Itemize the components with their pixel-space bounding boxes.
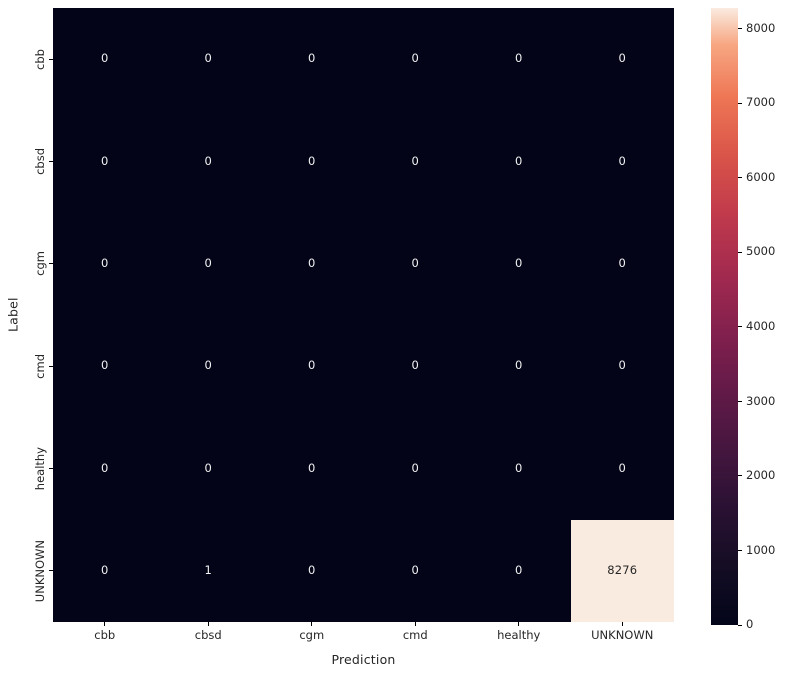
y-tick-label: UNKNOWN <box>35 540 47 602</box>
heatmap-cell-value: 0 <box>101 156 109 168</box>
heatmap-cell-value: 0 <box>618 463 626 475</box>
heatmap-cell-value: 0 <box>308 463 316 475</box>
x-tick-mark <box>518 622 519 626</box>
heatmap-cell-value: 0 <box>515 463 523 475</box>
x-tick-mark <box>415 622 416 626</box>
heatmap-cell: 0 <box>364 417 468 519</box>
x-tick: cbsd <box>157 622 261 648</box>
colorbar-tick-mark <box>738 550 742 551</box>
heatmap-cell-value: 8276 <box>607 565 637 577</box>
heatmap-cell: 0 <box>157 315 261 417</box>
heatmap-cell-value: 0 <box>308 360 316 372</box>
heatmap-cell: 0 <box>53 417 157 519</box>
x-tick: healthy <box>467 622 571 648</box>
heatmap-cell: 0 <box>260 417 364 519</box>
y-tick-label: cmd <box>35 354 47 379</box>
x-tick-label: healthy <box>497 630 540 642</box>
y-tick-label: cbsd <box>35 148 47 175</box>
heatmap-cell: 1 <box>157 520 261 622</box>
heatmap-cell-value: 0 <box>308 565 316 577</box>
heatmap-cell-value: 0 <box>618 360 626 372</box>
heatmap-cell: 0 <box>53 213 157 315</box>
colorbar-tick-mark <box>738 326 742 327</box>
heatmap-cell-value: 0 <box>411 360 419 372</box>
x-tick: UNKNOWN <box>571 622 675 648</box>
colorbar-tick-label: 6000 <box>746 172 775 184</box>
heatmap-cell-value: 0 <box>101 360 109 372</box>
heatmap-cell-value: 1 <box>204 565 212 577</box>
heatmap-cell: 0 <box>157 417 261 519</box>
x-axis-title: Prediction <box>53 652 674 667</box>
colorbar-tick-label: 1000 <box>746 545 775 557</box>
colorbar-tick-mark <box>738 252 742 253</box>
heatmap-cell: 0 <box>467 110 571 212</box>
heatmap-cell: 0 <box>260 520 364 622</box>
x-tick-mark <box>104 622 105 626</box>
heatmap-cell-value: 0 <box>515 156 523 168</box>
x-tick-mark <box>622 622 623 626</box>
heatmap-cell: 0 <box>364 110 468 212</box>
colorbar-tick-label: 3000 <box>746 396 775 408</box>
x-tick-label: UNKNOWN <box>591 630 653 642</box>
heatmap-cell: 8276 <box>571 520 675 622</box>
x-tick: cmd <box>364 622 468 648</box>
colorbar-tick-label: 4000 <box>746 321 775 333</box>
heatmap-cell-value: 0 <box>308 156 316 168</box>
heatmap-cell-value: 0 <box>101 565 109 577</box>
colorbar-tick-mark <box>738 103 742 104</box>
heatmap-cell: 0 <box>53 520 157 622</box>
heatmap-cell-value: 0 <box>515 360 523 372</box>
colorbar: 800070006000500040003000200010000 <box>711 8 738 625</box>
colorbar-tick-label: 5000 <box>746 246 775 258</box>
heatmap-cell-value: 0 <box>204 258 212 270</box>
x-tick: cgm <box>260 622 364 648</box>
y-tick-label: cgm <box>35 251 47 276</box>
heatmap-cell-value: 0 <box>515 565 523 577</box>
confusion-matrix-figure: Label cbbcbsdcgmcmdhealthyUNKNOWN 000000… <box>0 0 797 679</box>
colorbar-tick-mark <box>738 401 742 402</box>
x-tick: cbb <box>53 622 157 648</box>
colorbar-tick-label: 7000 <box>746 97 775 109</box>
y-tick-label: cbb <box>35 49 47 70</box>
colorbar-tick-list: 800070006000500040003000200010000 <box>738 8 797 625</box>
heatmap-cell-value: 0 <box>308 53 316 65</box>
colorbar-tick-label: 2000 <box>746 470 775 482</box>
heatmap-cell: 0 <box>364 520 468 622</box>
heatmap-cell: 0 <box>53 8 157 110</box>
heatmap-cell-value: 0 <box>411 565 419 577</box>
heatmap-cell-value: 0 <box>515 53 523 65</box>
heatmap-cell: 0 <box>571 110 675 212</box>
x-tick-label: cbsd <box>195 630 222 642</box>
colorbar-gradient <box>711 8 738 625</box>
heatmap-cell: 0 <box>364 315 468 417</box>
y-tick-label: healthy <box>35 447 47 490</box>
heatmap-cell: 0 <box>571 315 675 417</box>
colorbar-tick-mark <box>738 177 742 178</box>
heatmap-grid: 000000000000000000000000000000010008276 <box>53 8 674 622</box>
heatmap-cell-value: 0 <box>204 463 212 475</box>
heatmap-cell-value: 0 <box>411 258 419 270</box>
y-axis: cbbcbsdcgmcmdhealthyUNKNOWN <box>0 8 53 622</box>
heatmap-cell: 0 <box>53 315 157 417</box>
x-tick-mark <box>311 622 312 626</box>
heatmap-cell: 0 <box>53 110 157 212</box>
heatmap-cell-value: 0 <box>101 53 109 65</box>
heatmap-cell-value: 0 <box>618 53 626 65</box>
x-tick-label: cmd <box>403 630 428 642</box>
heatmap-cell: 0 <box>157 8 261 110</box>
heatmap-cell: 0 <box>364 8 468 110</box>
heatmap-cell-value: 0 <box>204 53 212 65</box>
heatmap-cell: 0 <box>571 8 675 110</box>
colorbar-tick-label: 0 <box>746 619 753 631</box>
x-axis: cbbcbsdcgmcmdhealthyUNKNOWN <box>53 622 674 648</box>
heatmap-cell-value: 0 <box>204 156 212 168</box>
colorbar-tick-mark <box>738 28 742 29</box>
heatmap-cell: 0 <box>467 213 571 315</box>
heatmap-cell-value: 0 <box>308 258 316 270</box>
heatmap-cell-value: 0 <box>411 156 419 168</box>
x-tick-label: cgm <box>299 630 324 642</box>
heatmap-cell: 0 <box>260 8 364 110</box>
heatmap-cell-value: 0 <box>204 360 212 372</box>
heatmap-cell-value: 0 <box>101 258 109 270</box>
heatmap-cell: 0 <box>467 520 571 622</box>
heatmap-cell-value: 0 <box>411 53 419 65</box>
x-tick-mark <box>208 622 209 626</box>
heatmap-cell: 0 <box>260 213 364 315</box>
heatmap-cell: 0 <box>571 213 675 315</box>
x-tick-label: cbb <box>94 630 115 642</box>
colorbar-tick-label: 8000 <box>746 23 775 35</box>
heatmap-cell-value: 0 <box>618 258 626 270</box>
heatmap-cell: 0 <box>467 315 571 417</box>
heatmap-cell: 0 <box>467 8 571 110</box>
heatmap-cell: 0 <box>157 213 261 315</box>
heatmap-cell-value: 0 <box>101 463 109 475</box>
heatmap-cell: 0 <box>364 213 468 315</box>
heatmap-cell: 0 <box>571 417 675 519</box>
colorbar-tick-mark <box>738 625 742 626</box>
heatmap-cell: 0 <box>260 315 364 417</box>
colorbar-tick-mark <box>738 475 742 476</box>
heatmap-cell-value: 0 <box>515 258 523 270</box>
heatmap-cell-value: 0 <box>411 463 419 475</box>
heatmap-cell: 0 <box>157 110 261 212</box>
heatmap-cell-value: 0 <box>618 156 626 168</box>
heatmap-cell: 0 <box>467 417 571 519</box>
heatmap-cell: 0 <box>260 110 364 212</box>
